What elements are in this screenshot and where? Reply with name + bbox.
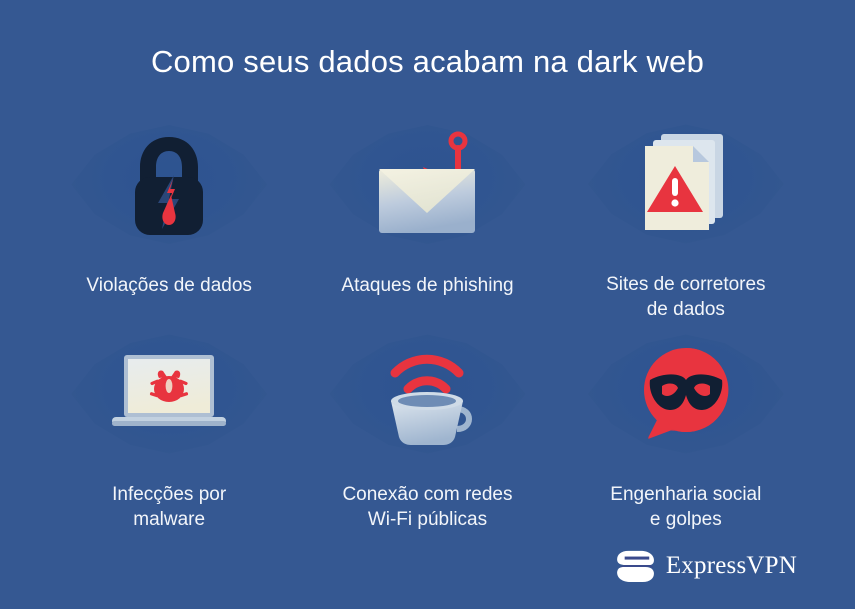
laptop-bug-icon <box>106 351 232 437</box>
caption-line-2: de dados <box>647 299 725 320</box>
risk-item-public-wifi: Conexão com redes Wi-Fi públicas <box>298 322 556 532</box>
phishing-envelope-hook-icon <box>363 129 491 241</box>
speech-bubble-mask-icon <box>634 342 738 446</box>
risk-item-caption: Ataques de phishing <box>312 273 542 298</box>
risk-item-caption: Infecções por malware <box>54 482 284 532</box>
risk-item-social-engineering: Engenharia social e golpes <box>557 322 815 532</box>
brand-wordmark: ExpressVPN <box>666 553 797 579</box>
icon-stage <box>322 322 532 466</box>
risk-item-malware: Infecções por malware <box>40 322 298 532</box>
caption-line-1: Violações de dados <box>86 275 252 296</box>
caption-line-2: Wi-Fi públicas <box>368 509 487 530</box>
risk-item-caption: Violações de dados <box>54 273 284 298</box>
risk-item-caption: Conexão com redes Wi-Fi públicas <box>312 482 542 532</box>
risk-item-data-brokers: Sites de corretores de dados <box>557 112 815 322</box>
coffee-cup-wifi-icon <box>369 339 485 449</box>
risk-item-data-breaches: Violações de dados <box>40 112 298 322</box>
caption-line-1: Engenharia social <box>610 484 761 505</box>
documents-warning-icon <box>631 128 741 240</box>
risk-item-caption: Engenharia social e golpes <box>571 482 801 532</box>
risk-item-phishing: Ataques de phishing <box>298 112 556 322</box>
caption-line-1: Ataques de phishing <box>341 275 513 296</box>
infographic-canvas: Como seus dados acabam na dark web Viola… <box>0 0 855 609</box>
risk-item-caption: Sites de corretores de dados <box>571 272 801 322</box>
risk-grid: Violações de dados <box>40 112 815 532</box>
icon-stage <box>64 322 274 466</box>
icon-stage <box>322 112 532 257</box>
icon-stage <box>64 112 274 257</box>
icon-stage <box>581 322 791 466</box>
caption-line-1: Conexão com redes <box>342 484 512 505</box>
caption-line-1: Infecções por <box>112 484 226 505</box>
broken-lock-icon <box>117 131 221 239</box>
caption-line-1: Sites de corretores <box>606 274 765 295</box>
expressvpn-e-mark-icon <box>617 549 655 583</box>
caption-line-2: e golpes <box>650 509 722 530</box>
icon-stage <box>581 112 791 256</box>
expressvpn-logo: ExpressVPN <box>617 549 797 583</box>
caption-line-2: malware <box>133 509 205 530</box>
page-title: Como seus dados acabam na dark web <box>0 42 855 82</box>
